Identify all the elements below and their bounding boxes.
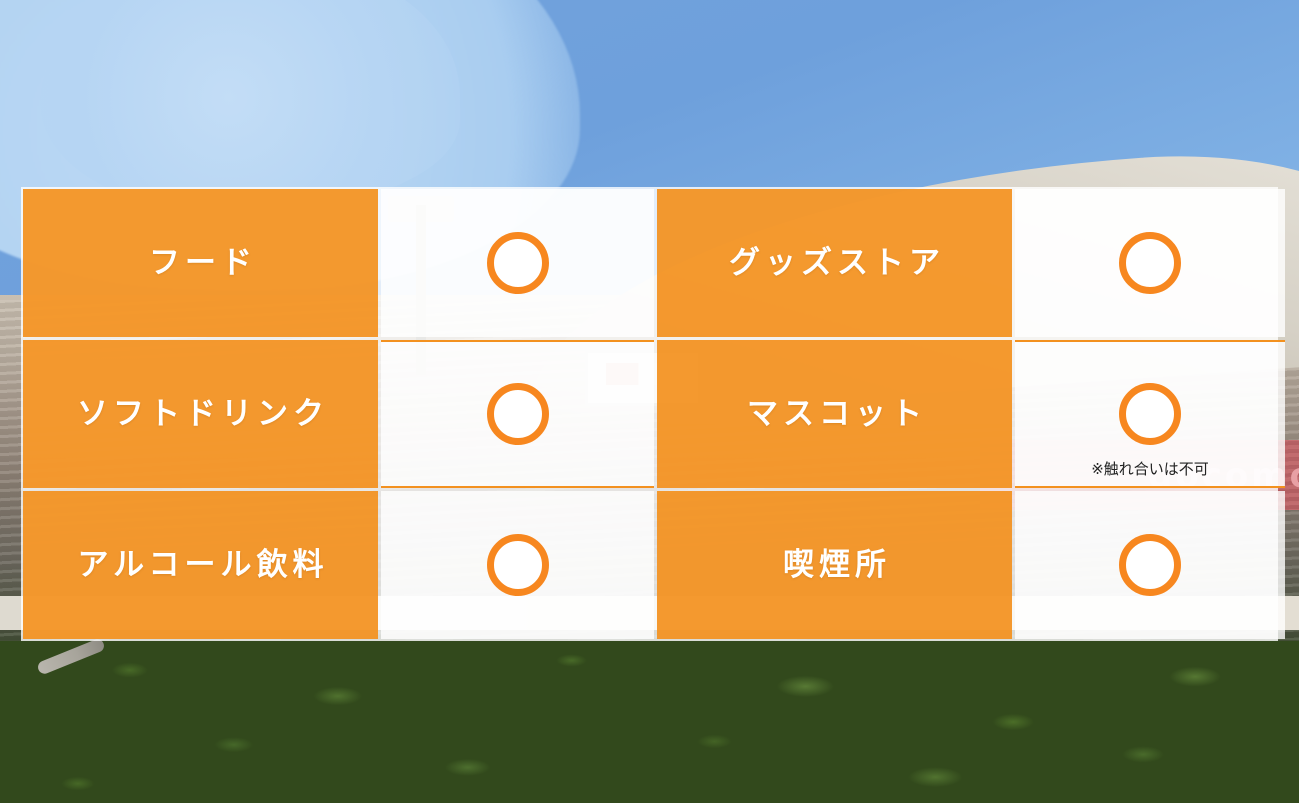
table-row[interactable]: アルコール飲料 [23, 491, 378, 639]
circle-available-mark-icon [1119, 383, 1181, 445]
mascot-restriction-note: ※触れ合いは不可 [1015, 458, 1285, 479]
availability-table: フード グッズストア ソフトドリンク マスコット ※ [21, 187, 1278, 641]
availability-cell-food[interactable] [381, 189, 654, 337]
availability-grid: フード グッズストア ソフトドリンク マスコット ※ [23, 189, 1276, 639]
availability-cell-alcohol[interactable] [381, 491, 654, 639]
availability-cell-smoking-area[interactable] [1015, 491, 1285, 639]
table-row[interactable]: ソフトドリンク [23, 340, 378, 488]
circle-available-mark-icon [487, 232, 549, 294]
screenshot-stage: docomo フード グッズストア ソフトドリンク [0, 0, 1299, 803]
circle-available-mark-icon [487, 534, 549, 596]
table-row[interactable]: 喫煙所 [657, 491, 1012, 639]
category-label-mascot: マスコット [742, 399, 927, 430]
grass-texture [0, 641, 1299, 803]
table-row[interactable]: グッズストア [657, 189, 1012, 337]
category-label-food: フード [144, 248, 257, 279]
table-row[interactable]: フード [23, 189, 378, 337]
cloud-shape-small [40, 0, 460, 210]
circle-available-mark-icon [1119, 534, 1181, 596]
category-label-smoking-area: 喫煙所 [778, 550, 891, 581]
category-label-goods-store: グッズストア [724, 248, 945, 279]
availability-cell-soft-drink[interactable] [381, 340, 654, 488]
table-row[interactable]: マスコット [657, 340, 1012, 488]
category-label-alcohol: アルコール飲料 [72, 550, 328, 581]
category-label-soft-drink: ソフトドリンク [72, 399, 329, 430]
circle-available-mark-icon [1119, 232, 1181, 294]
circle-available-mark-icon [487, 383, 549, 445]
availability-cell-mascot[interactable]: ※触れ合いは不可 [1015, 340, 1285, 488]
availability-cell-goods-store[interactable] [1015, 189, 1285, 337]
